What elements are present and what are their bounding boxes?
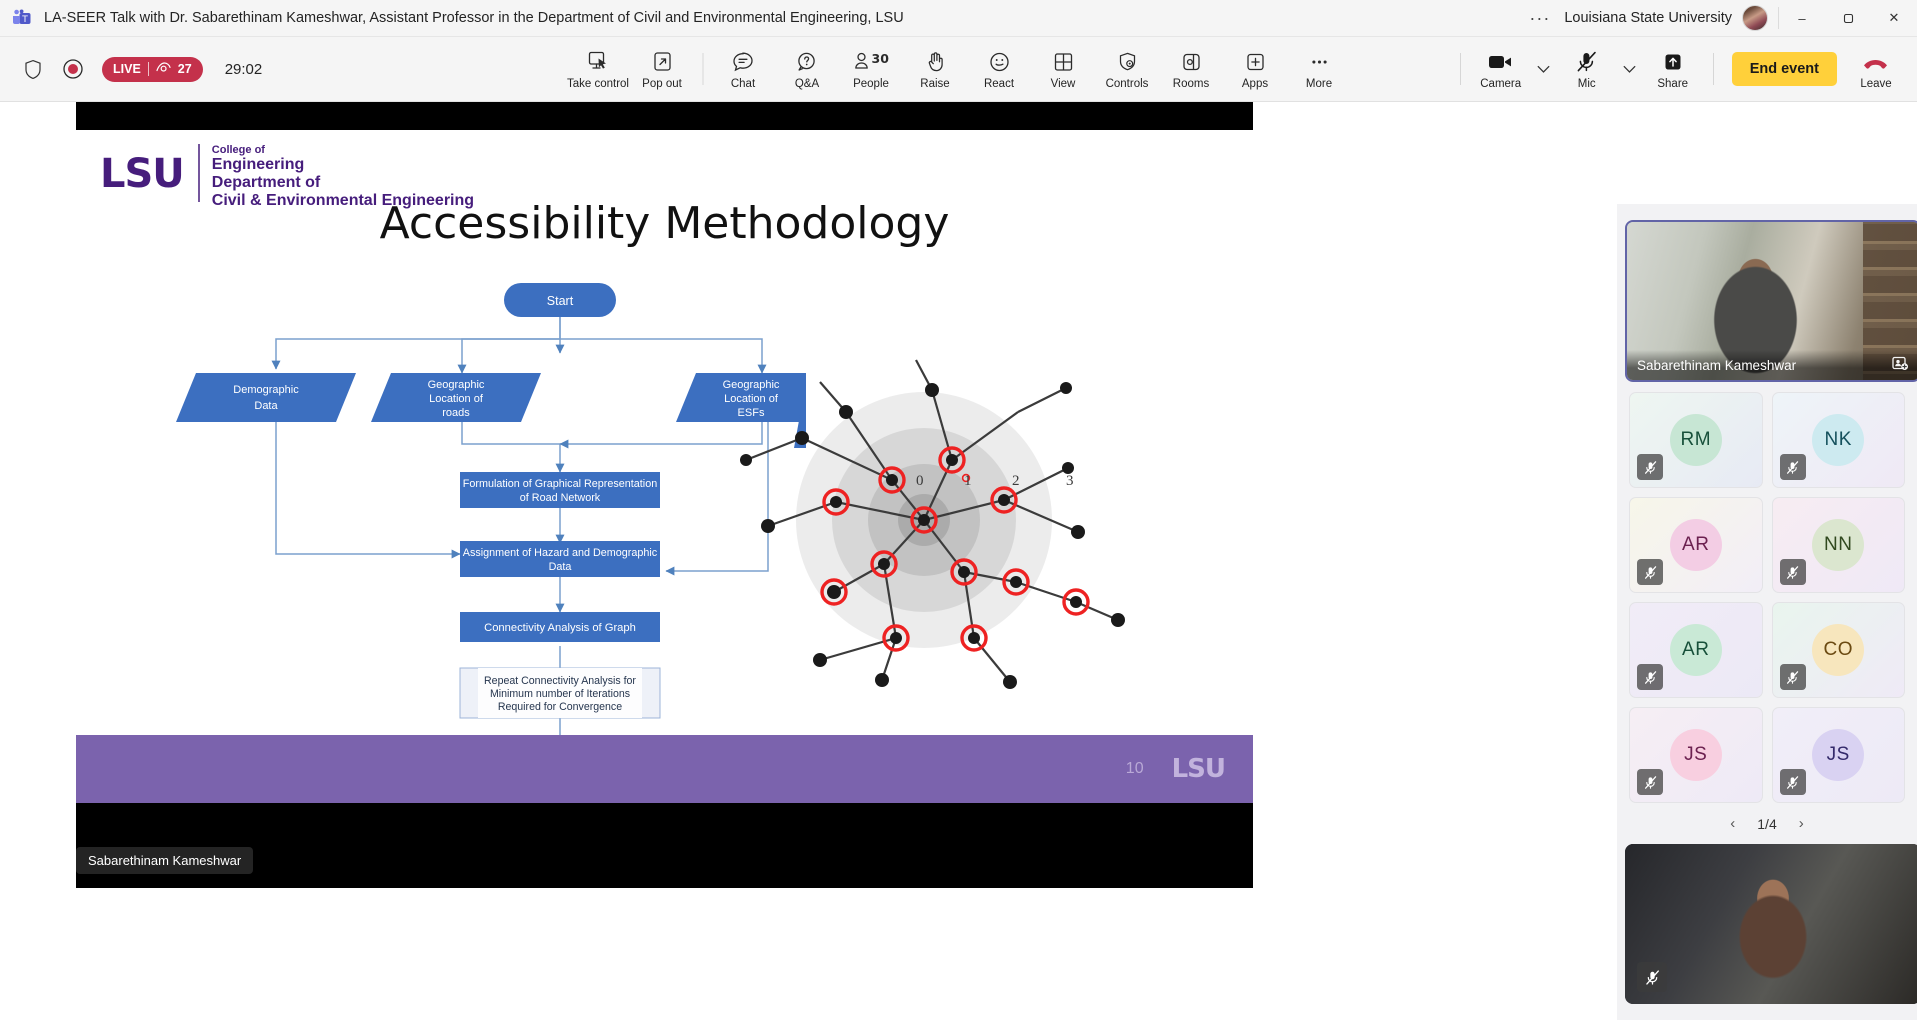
engineering-label: Engineering bbox=[212, 156, 474, 174]
mic-muted-icon bbox=[1574, 49, 1600, 75]
mic-muted-icon bbox=[1637, 664, 1663, 690]
mic-muted-icon bbox=[1637, 559, 1663, 585]
people-label: People bbox=[853, 78, 889, 90]
college-of-label: College of bbox=[212, 144, 474, 156]
svg-text:Connectivity Analysis of Graph: Connectivity Analysis of Graph bbox=[484, 622, 636, 634]
qa-button[interactable]: Q&A bbox=[775, 40, 839, 98]
participants-pager: ‹ 1/4 › bbox=[1629, 815, 1905, 832]
react-label: React bbox=[984, 78, 1014, 90]
mic-muted-icon bbox=[1780, 664, 1806, 690]
avatar-initials: JS bbox=[1684, 744, 1707, 766]
minimize-button[interactable]: – bbox=[1779, 0, 1825, 37]
avatar: AR bbox=[1670, 624, 1722, 676]
participant-tile[interactable]: NN bbox=[1772, 497, 1906, 593]
svg-text:Geographic: Geographic bbox=[428, 379, 485, 391]
qa-icon bbox=[795, 49, 820, 75]
flow-node-repeat-connectivity: Repeat Connectivity Analysis for Minimum… bbox=[460, 668, 660, 718]
leave-label: Leave bbox=[1860, 78, 1891, 90]
end-event-button[interactable]: End event bbox=[1732, 52, 1837, 86]
hang-up-icon bbox=[1861, 49, 1891, 75]
shared-content-area[interactable]: LSU College of Engineering Department of… bbox=[76, 102, 1253, 832]
org-name: Louisiana State University bbox=[1564, 10, 1732, 26]
avatar-initials: CO bbox=[1824, 639, 1854, 661]
live-badge: LIVE 27 bbox=[102, 57, 203, 82]
svg-text:Formulation of Graphical Repre: Formulation of Graphical Representation bbox=[463, 478, 657, 490]
live-label: LIVE bbox=[113, 62, 141, 76]
avatar-initials: NK bbox=[1825, 429, 1852, 451]
svg-text:roads: roads bbox=[442, 407, 470, 419]
mic-muted-icon bbox=[1637, 454, 1663, 480]
svg-text:of Road Network: of Road Network bbox=[520, 492, 601, 504]
leave-button[interactable]: Leave bbox=[1847, 40, 1905, 98]
participants-rail: Sabarethinam Kameshwar RM NK bbox=[1617, 204, 1917, 1020]
avatar: NN bbox=[1812, 519, 1864, 571]
presentation-slide: LSU College of Engineering Department of… bbox=[76, 130, 1253, 803]
share-label: Share bbox=[1657, 78, 1688, 90]
camera-icon bbox=[1486, 49, 1516, 75]
svg-text:Demographic: Demographic bbox=[233, 384, 299, 396]
mic-muted-icon bbox=[1780, 559, 1806, 585]
maximize-button[interactable] bbox=[1825, 0, 1871, 37]
mic-muted-icon bbox=[1637, 769, 1663, 795]
footer-lsu-logo: LSU bbox=[1172, 754, 1225, 784]
chat-icon bbox=[731, 49, 756, 75]
svg-text:Assignment of Hazard and Demog: Assignment of Hazard and Demographic bbox=[463, 547, 658, 559]
controls-label: Controls bbox=[1106, 78, 1149, 90]
title-bar-right: ··· Louisiana State University – ✕ bbox=[1515, 0, 1917, 36]
camera-button[interactable]: Camera bbox=[1469, 40, 1533, 98]
share-button[interactable]: Share bbox=[1641, 40, 1705, 98]
slide-page-number: 10 bbox=[1126, 760, 1144, 778]
slide-footer: 10 LSU bbox=[76, 735, 1253, 803]
take-control-button[interactable]: Take control bbox=[566, 40, 630, 98]
participant-tile[interactable]: AR bbox=[1629, 497, 1763, 593]
viewers-eye-icon bbox=[156, 62, 171, 76]
video-tile-participant[interactable] bbox=[1625, 844, 1917, 1004]
flow-node-connectivity: Connectivity Analysis of Graph bbox=[460, 612, 660, 642]
participant-grid: RM NK AR bbox=[1629, 392, 1905, 803]
presenter-name-bar: Sabarethinam Kameshwar bbox=[76, 832, 1253, 888]
controls-shield-icon bbox=[1115, 49, 1139, 75]
controls-button[interactable]: Controls bbox=[1095, 40, 1159, 98]
avatar: NK bbox=[1812, 414, 1864, 466]
chat-label: Chat bbox=[731, 78, 755, 90]
record-icon[interactable] bbox=[58, 54, 88, 84]
pop-out-label: Pop out bbox=[642, 78, 682, 90]
qa-label: Q&A bbox=[795, 78, 819, 90]
apps-label: Apps bbox=[1242, 78, 1268, 90]
participant-tile[interactable]: JS bbox=[1772, 707, 1906, 803]
pin-person-icon[interactable] bbox=[1892, 356, 1909, 374]
flow-node-roads: Geographic Location of roads bbox=[371, 373, 541, 422]
raise-hand-button[interactable]: Raise bbox=[903, 40, 967, 98]
take-control-icon bbox=[585, 49, 611, 75]
svg-text:Required for Convergence: Required for Convergence bbox=[498, 701, 622, 713]
meeting-toolbar: LIVE 27 29:02 Take control Pop out bbox=[0, 37, 1917, 102]
toolbar-right: Camera Mic Share End bbox=[1452, 37, 1905, 101]
shield-icon[interactable] bbox=[18, 54, 48, 84]
ring-label-3: 3 bbox=[1066, 473, 1074, 489]
react-icon bbox=[987, 49, 1011, 75]
lsu-wordmark: LSU bbox=[100, 142, 184, 194]
mic-muted-icon bbox=[1780, 769, 1806, 795]
teams-icon: T bbox=[12, 8, 32, 28]
svg-text:Repeat Connectivity Analysis f: Repeat Connectivity Analysis for bbox=[484, 675, 636, 687]
view-button[interactable]: View bbox=[1031, 40, 1095, 98]
flow-node-formulation: Formulation of Graphical Representation … bbox=[460, 472, 660, 508]
avatar: JS bbox=[1812, 729, 1864, 781]
meeting-stage: LSU College of Engineering Department of… bbox=[0, 102, 1917, 1020]
people-button[interactable]: 30 People bbox=[839, 40, 903, 98]
video-tile-name: Sabarethinam Kameshwar bbox=[1637, 358, 1796, 373]
participant-tile[interactable]: NK bbox=[1772, 392, 1906, 488]
camera-chevron-down-icon[interactable] bbox=[1533, 43, 1555, 95]
divider bbox=[1713, 53, 1714, 85]
divider bbox=[148, 62, 149, 76]
divider bbox=[702, 53, 703, 85]
svg-text:Data: Data bbox=[549, 561, 572, 573]
more-button[interactable]: More bbox=[1287, 40, 1351, 98]
more-ellipsis-icon bbox=[1307, 49, 1331, 75]
video-tile-self[interactable]: Sabarethinam Kameshwar bbox=[1625, 220, 1917, 382]
avatar-initials: NN bbox=[1824, 534, 1852, 556]
video-tile-name-overlay: Sabarethinam Kameshwar bbox=[1627, 350, 1917, 380]
people-icon: 30 bbox=[852, 49, 890, 75]
flow-node-assignment: Assignment of Hazard and Demographic Dat… bbox=[460, 541, 660, 577]
flow-start-label: Start bbox=[547, 294, 574, 308]
svg-text:Data: Data bbox=[254, 400, 278, 412]
svg-text:T: T bbox=[21, 15, 28, 25]
ring-label-1: 1 bbox=[964, 473, 972, 489]
toolbar-left: LIVE 27 29:02 bbox=[12, 54, 262, 84]
accessibility-flowchart: Start Demographic Data Geographic Locati… bbox=[166, 270, 806, 750]
pager-next-button[interactable]: › bbox=[1799, 815, 1804, 832]
take-control-label: Take control bbox=[567, 78, 629, 90]
pager-current: 1/4 bbox=[1757, 816, 1776, 832]
mic-label: Mic bbox=[1578, 78, 1596, 90]
pop-out-button[interactable]: Pop out bbox=[630, 40, 694, 98]
titlebar-more-button[interactable]: ··· bbox=[1515, 9, 1564, 27]
participant-tile[interactable]: JS bbox=[1629, 707, 1763, 803]
camera-label: Camera bbox=[1480, 78, 1521, 90]
department-of-label: Department of bbox=[212, 174, 474, 192]
pager-prev-button[interactable]: ‹ bbox=[1730, 815, 1735, 832]
close-button[interactable]: ✕ bbox=[1871, 0, 1917, 37]
slide-title: Accessibility Methodology bbox=[76, 198, 1253, 249]
view-grid-icon bbox=[1051, 49, 1075, 75]
ring-label-2: 2 bbox=[1012, 473, 1020, 489]
presenter-name: Sabarethinam Kameshwar bbox=[76, 847, 253, 874]
avatar-initials: JS bbox=[1827, 744, 1850, 766]
avatar: CO bbox=[1812, 624, 1864, 676]
rooms-label: Rooms bbox=[1173, 78, 1209, 90]
chat-button[interactable]: Chat bbox=[711, 40, 775, 98]
apps-plus-icon bbox=[1243, 49, 1267, 75]
apps-button[interactable]: Apps bbox=[1223, 40, 1287, 98]
share-screen-icon bbox=[1661, 49, 1685, 75]
raise-hand-icon bbox=[923, 49, 947, 75]
rooms-icon bbox=[1179, 49, 1203, 75]
mic-muted-icon bbox=[1780, 454, 1806, 480]
accessibility-network-graph: 0 1 2 3 bbox=[716, 320, 1216, 740]
mic-chevron-down-icon[interactable] bbox=[1619, 43, 1641, 95]
divider bbox=[1460, 53, 1461, 85]
svg-text:30: 30 bbox=[871, 51, 889, 66]
participant-tile[interactable]: AR bbox=[1629, 602, 1763, 698]
more-label: More bbox=[1306, 78, 1332, 90]
avatar: JS bbox=[1670, 729, 1722, 781]
flow-node-demographic-data: Demographic Data bbox=[176, 373, 356, 422]
avatar: RM bbox=[1670, 414, 1722, 466]
raise-label: Raise bbox=[920, 78, 949, 90]
participant-tile[interactable]: CO bbox=[1772, 602, 1906, 698]
title-bar: T LA-SEER Talk with Dr. Sabarethinam Kam… bbox=[0, 0, 1917, 37]
rooms-button[interactable]: Rooms bbox=[1159, 40, 1223, 98]
mic-button[interactable]: Mic bbox=[1555, 40, 1619, 98]
meeting-timer: 29:02 bbox=[225, 61, 263, 78]
react-button[interactable]: React bbox=[967, 40, 1031, 98]
svg-text:Minimum number of Iterations: Minimum number of Iterations bbox=[490, 688, 630, 700]
svg-text:Location of: Location of bbox=[429, 393, 484, 405]
ring-label-0: 0 bbox=[916, 473, 924, 489]
avatar-initials: RM bbox=[1680, 429, 1711, 451]
avatar-initials: AR bbox=[1682, 534, 1709, 556]
toolbar-center: Take control Pop out Chat Q&A bbox=[566, 37, 1351, 101]
avatar[interactable] bbox=[1742, 5, 1768, 31]
pop-out-icon bbox=[650, 49, 674, 75]
divider bbox=[198, 144, 200, 202]
mic-muted-icon bbox=[1637, 962, 1667, 992]
view-label: View bbox=[1051, 78, 1076, 90]
participant-tile[interactable]: RM bbox=[1629, 392, 1763, 488]
avatar-initials: AR bbox=[1682, 639, 1709, 661]
video-feed bbox=[1625, 844, 1917, 1004]
meeting-title: LA-SEER Talk with Dr. Sabarethinam Kames… bbox=[44, 10, 904, 26]
viewers-count: 27 bbox=[178, 62, 192, 76]
avatar: AR bbox=[1670, 519, 1722, 571]
